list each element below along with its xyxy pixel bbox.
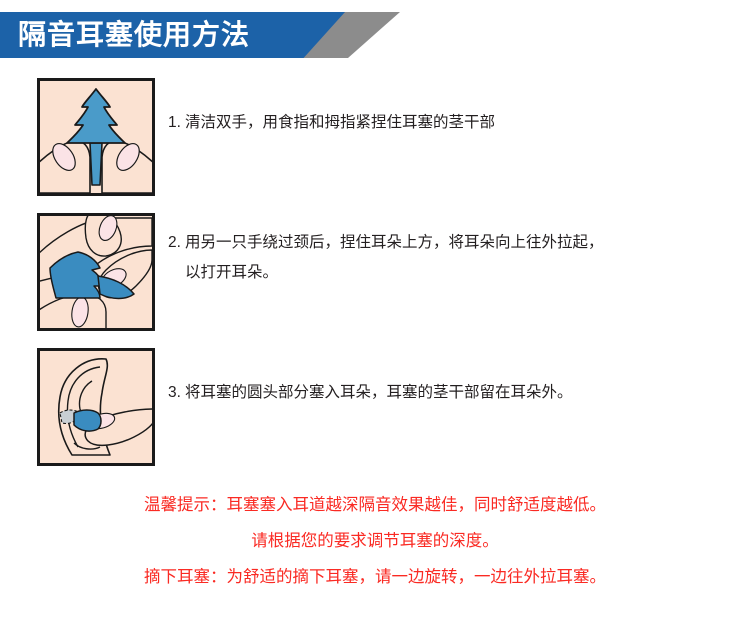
step-row: 3.将耳塞的圆头部分塞入耳朵，耳塞的茎干部留在耳朵外。 [0, 340, 750, 475]
step-row: 1.清洁双手，用食指和拇指紧捏住耳塞的茎干部 [0, 70, 750, 205]
warning-notes: 温馨提示：耳塞塞入耳道越深隔音效果越佳，同时舒适度越低。 请根据您的要求调节耳塞… [0, 487, 750, 595]
note-line-3: 摘下耳塞：为舒适的摘下耳塞，请一边旋转，一边往外拉耳塞。 [0, 559, 750, 595]
page-header: 隔音耳塞使用方法 [0, 0, 750, 70]
step-number: 1. [168, 108, 185, 138]
step-text-2: 2.用另一只手绕过颈后，捏住耳朵上方，将耳朵向上往外拉起， 以打开耳朵。 [168, 228, 738, 288]
step-image-2 [37, 213, 155, 331]
step-image-3 [37, 348, 155, 466]
step-description: 清洁双手，用食指和拇指紧捏住耳塞的茎干部 [185, 114, 495, 131]
step-text-3: 3.将耳塞的圆头部分塞入耳朵，耳塞的茎干部留在耳朵外。 [168, 378, 738, 408]
step-image-1 [37, 78, 155, 196]
step-description: 用另一只手绕过颈后，捏住耳朵上方，将耳朵向上往外拉起， [185, 234, 604, 251]
step-description: 将耳塞的圆头部分塞入耳朵，耳塞的茎干部留在耳朵外。 [185, 384, 573, 401]
step-description-line2: 以打开耳朵。 [168, 258, 738, 288]
note-line-2: 请根据您的要求调节耳塞的深度。 [0, 523, 750, 559]
note-line-1: 温馨提示：耳塞塞入耳道越深隔音效果越佳，同时舒适度越低。 [0, 487, 750, 523]
step-number: 2. [168, 228, 185, 258]
step-text-1: 1.清洁双手，用食指和拇指紧捏住耳塞的茎干部 [168, 108, 738, 138]
step-number: 3. [168, 378, 185, 408]
instruction-steps: 1.清洁双手，用食指和拇指紧捏住耳塞的茎干部 [0, 70, 750, 475]
page-title: 隔音耳塞使用方法 [18, 12, 250, 58]
step-row: 2.用另一只手绕过颈后，捏住耳朵上方，将耳朵向上往外拉起， 以打开耳朵。 [0, 205, 750, 340]
